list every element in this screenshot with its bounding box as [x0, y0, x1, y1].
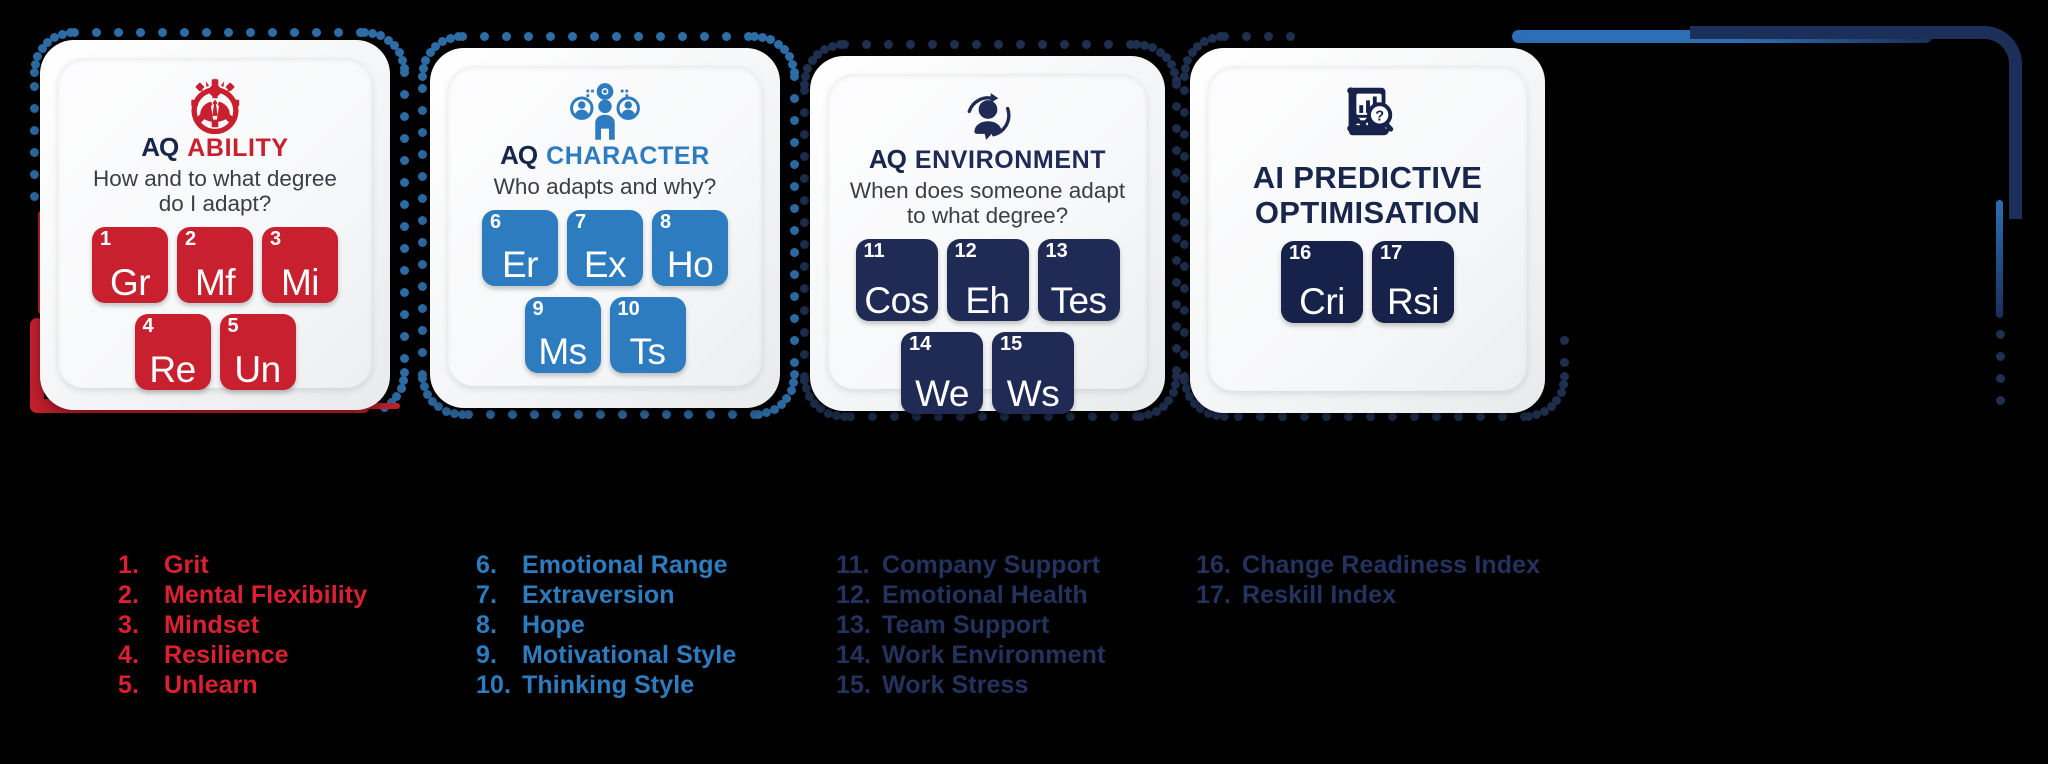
tile-symbol: Ts	[610, 333, 686, 372]
legend-item: 10. Thinking Style	[476, 671, 736, 699]
card-brand-name: ABILITY	[187, 136, 288, 161]
decorative-dot	[1532, 410, 1541, 419]
decorative-dot	[30, 68, 39, 77]
legend-label: Extraversion	[522, 581, 675, 609]
legend-label: Change Readiness Index	[1242, 551, 1540, 579]
decorative-dot	[1432, 412, 1441, 421]
legend-ai-predictive: 16. Change Readiness Index 17. Reskill I…	[1196, 551, 1540, 611]
tile-row-2: 4 Re 5 Un	[135, 314, 296, 390]
decorative-dot	[634, 32, 643, 41]
legend-item: 5. Unlearn	[118, 671, 367, 699]
element-tile-3[interactable]: 3 Mi	[262, 227, 338, 303]
decorative-dot	[400, 68, 409, 77]
decorative-dot	[790, 116, 799, 125]
legend-item: 4. Resilience	[118, 641, 367, 669]
element-tile-5[interactable]: 5 Un	[220, 314, 296, 390]
decorative-dot	[800, 130, 809, 139]
legend-item: 12. Emotional Health	[836, 581, 1105, 609]
decorative-dot	[546, 32, 555, 41]
decorative-dot	[290, 28, 299, 37]
decorative-dot	[1996, 396, 2005, 405]
tile-number: 11	[864, 241, 885, 261]
legend-item: 13. Team Support	[836, 611, 1105, 639]
decorative-dot	[1234, 412, 1243, 421]
decorative-dot	[1476, 412, 1485, 421]
legend-label: Mindset	[164, 611, 259, 639]
card-brand-name: ENVIRONMENT	[915, 148, 1106, 173]
decorative-dot	[1132, 412, 1141, 421]
decorative-dot	[334, 28, 343, 37]
card-brand: AQ ENVIRONMENT	[869, 146, 1106, 173]
tile-symbol: Tes	[1038, 282, 1120, 321]
tile-symbol: Re	[135, 351, 211, 390]
decorative-dot	[728, 410, 737, 419]
tile-number: 10	[618, 299, 640, 319]
decorative-dot	[700, 32, 709, 41]
decorative-dot	[180, 28, 189, 37]
element-tile-2[interactable]: 2 Mf	[177, 227, 253, 303]
decorative-dot	[400, 332, 409, 341]
decorative-dot	[1996, 374, 2005, 383]
tile-symbol: Ms	[525, 333, 601, 372]
decorative-dot	[1152, 407, 1161, 416]
decorative-dot	[1183, 56, 1192, 65]
decorative-dot	[862, 40, 871, 49]
decorative-dot	[114, 28, 123, 37]
legend-item: 3. Mindset	[118, 611, 367, 639]
tile-number: 4	[143, 316, 154, 336]
legend-item: 2. Mental Flexibility	[118, 581, 367, 609]
card-icon	[566, 80, 644, 142]
decorative-dot	[994, 40, 1003, 49]
decorative-dot	[1060, 40, 1069, 49]
decorative-dot	[832, 411, 841, 420]
decorative-dot	[596, 410, 605, 419]
decorative-dot	[421, 56, 430, 65]
decorative-dot	[458, 410, 467, 419]
decorative-dot	[502, 32, 511, 41]
decorative-dot	[1180, 108, 1189, 117]
decorative-dot	[800, 284, 809, 293]
legend-number: 13.	[836, 611, 882, 639]
decorative-dot	[1088, 412, 1097, 421]
decorative-dot	[524, 32, 533, 41]
card-brand: AQ CHARACTER	[500, 142, 710, 169]
decorative-dot	[1180, 306, 1189, 315]
legend-number: 7.	[476, 581, 522, 609]
decorative-dot	[790, 160, 799, 169]
decorative-dot	[640, 410, 649, 419]
decorative-dot	[400, 112, 409, 121]
tile-symbol: Rsi	[1372, 283, 1454, 322]
decorative-dot	[1144, 410, 1153, 419]
decorative-dot	[30, 170, 39, 179]
decorative-dot	[418, 370, 427, 379]
decorative-dot	[801, 72, 810, 81]
decorative-dot	[1220, 412, 1229, 421]
decorative-dot	[454, 32, 463, 41]
legend-number: 11.	[836, 551, 882, 579]
decorative-dot	[803, 64, 812, 73]
decorative-dot	[590, 32, 599, 41]
decorative-dot	[1180, 262, 1189, 271]
decorative-dot	[418, 282, 427, 291]
tile-symbol: Ho	[652, 246, 728, 285]
legend-label: Thinking Style	[522, 671, 694, 699]
decorative-dot	[1996, 330, 2005, 339]
decorative-dot	[618, 410, 627, 419]
decorative-dot	[418, 84, 427, 93]
legend-number: 2.	[118, 581, 164, 609]
decorative-dot	[486, 410, 495, 419]
tile-symbol: Er	[482, 246, 558, 285]
decorative-dot	[568, 32, 577, 41]
decorative-dot	[790, 204, 799, 213]
tile-number: 15	[1000, 334, 1022, 354]
decorative-dot	[33, 52, 42, 61]
element-tile-8[interactable]: 8 Ho	[652, 210, 728, 286]
decorative-dot	[800, 80, 809, 89]
decorative-dot	[30, 104, 39, 113]
decorative-dot	[928, 40, 937, 49]
decorative-dot	[418, 348, 427, 357]
decorative-dot	[790, 270, 799, 279]
decorative-dot	[790, 94, 799, 103]
decorative-dot	[1180, 72, 1189, 81]
decorative-dot	[884, 40, 893, 49]
card-question: How and to what degreedo I adapt?	[93, 166, 337, 216]
decorative-dot	[1560, 358, 1569, 367]
element-tile-1[interactable]: 1 Gr	[92, 227, 168, 303]
decorative-dot	[612, 32, 621, 41]
tile-symbol: Mf	[177, 264, 253, 303]
decorative-dot	[1180, 372, 1189, 381]
legend-item: 6. Emotional Range	[476, 551, 736, 579]
legend-number: 12.	[836, 581, 882, 609]
decorative-dot	[418, 216, 427, 225]
legend-item: 14. Work Environment	[836, 641, 1105, 669]
element-tile-4[interactable]: 4 Re	[135, 314, 211, 390]
decorative-dot	[202, 28, 211, 37]
decorative-dot	[800, 306, 809, 315]
card-icon: ?	[1337, 80, 1399, 142]
element-tile-11[interactable]: 11 Cos	[856, 239, 938, 321]
decorative-dot	[418, 326, 427, 335]
card-icon	[955, 88, 1021, 146]
legend-number: 10.	[476, 671, 522, 699]
decorative-dot	[1560, 336, 1569, 345]
decorative-dot	[30, 126, 39, 135]
person-rotate-arrows-icon	[955, 88, 1021, 146]
legend-item: 9. Motivational Style	[476, 641, 736, 669]
legend-label: Grit	[164, 551, 209, 579]
legend-item: 16. Change Readiness Index	[1196, 551, 1540, 579]
legend-number: 17.	[1196, 581, 1242, 609]
decorative-dot	[1180, 196, 1189, 205]
decorative-dot	[800, 262, 809, 271]
legend-item: 7. Extraversion	[476, 581, 736, 609]
decorative-dot	[1242, 32, 1251, 41]
decorative-dot	[1520, 412, 1529, 421]
tile-row-2: 9 Ms 10 Ts	[525, 297, 686, 373]
tile-symbol: Un	[220, 351, 296, 390]
decorative-dot	[1454, 412, 1463, 421]
decorative-dot	[552, 410, 561, 419]
tile-row-1: 16 Cri 17 Rsi	[1281, 241, 1454, 323]
accent-bar-ai-top	[1512, 30, 1932, 43]
legend-ability: 1. Grit 2. Mental Flexibility 3. Mindset…	[118, 551, 367, 701]
decorative-dot	[246, 28, 255, 37]
aq-logo-text: AQ	[141, 134, 178, 160]
decorative-dot	[950, 40, 959, 49]
element-tile-14[interactable]: 14 We	[901, 332, 983, 414]
decorative-dot	[800, 174, 809, 183]
element-tile-15[interactable]: 15 Ws	[992, 332, 1074, 414]
decorative-dot	[800, 350, 809, 359]
decorative-dot	[1388, 412, 1397, 421]
decorative-dot	[790, 182, 799, 191]
decorative-dot	[380, 403, 389, 412]
legend-item: 17. Reskill Index	[1196, 581, 1540, 609]
legend-character: 6. Emotional Range 7. Extraversion 8. Ho…	[476, 551, 736, 701]
element-tile-16[interactable]: 16 Cri	[1281, 241, 1363, 323]
svg-text:?: ?	[1375, 109, 1384, 125]
legend-item: 15. Work Stress	[836, 671, 1105, 699]
element-tile-6[interactable]: 6 Er	[482, 210, 558, 286]
decorative-dot	[400, 90, 409, 99]
decorative-dot	[906, 40, 915, 49]
card-brand-name: CHARACTER	[546, 144, 710, 169]
decorative-dot	[840, 412, 849, 421]
decorative-dot	[1180, 218, 1189, 227]
decorative-dot	[418, 106, 427, 115]
decorative-dot	[418, 150, 427, 159]
gear-lightbulb-person-icon	[184, 72, 246, 134]
decorative-dot	[400, 200, 409, 209]
decorative-dot	[790, 138, 799, 147]
card-aq-character: AQ CHARACTER Who adapts and why? 6 Er 7 …	[430, 48, 780, 408]
decorative-dot	[530, 410, 539, 419]
tile-symbol: Ex	[567, 246, 643, 285]
decorative-dot	[30, 192, 39, 201]
decorative-dot	[790, 336, 799, 345]
tile-number: 5	[228, 316, 239, 336]
legend-number: 15.	[836, 671, 882, 699]
decorative-dot	[30, 148, 39, 157]
tile-number: 14	[909, 334, 931, 354]
decorative-dot	[1110, 412, 1119, 421]
legend-environment: 11. Company Support 12. Emotional Health…	[836, 551, 1105, 701]
tile-symbol: We	[901, 375, 983, 414]
legend-number: 4.	[118, 641, 164, 669]
accent-bar-ai-right-fade	[1996, 200, 2003, 318]
legend-number: 9.	[476, 641, 522, 669]
decorative-dot	[762, 408, 771, 417]
decorative-dot	[1180, 174, 1189, 183]
legend-item: 11. Company Support	[836, 551, 1105, 579]
decorative-dot	[1322, 412, 1331, 421]
decorative-dot	[400, 156, 409, 165]
element-tile-9[interactable]: 9 Ms	[525, 297, 601, 373]
decorative-dot	[868, 412, 877, 421]
accent-border-ai-corner	[1690, 26, 2022, 219]
decorative-dot	[1082, 40, 1091, 49]
decorative-dot	[1540, 407, 1549, 416]
decorative-dot	[1278, 412, 1287, 421]
aq-logo-text: AQ	[869, 146, 906, 172]
decorative-dot	[722, 32, 731, 41]
decorative-dot	[400, 310, 409, 319]
decorative-dot	[1498, 412, 1507, 421]
decorative-dot	[684, 410, 693, 419]
element-tile-7[interactable]: 7 Ex	[567, 210, 643, 286]
tile-number: 9	[533, 299, 544, 319]
legend-label: Reskill Index	[1242, 581, 1396, 609]
legend-label: Mental Flexibility	[164, 581, 367, 609]
decorative-dot	[400, 178, 409, 187]
card-question: Who adapts and why?	[494, 174, 717, 199]
decorative-dot	[1256, 412, 1265, 421]
decorative-dot	[1300, 412, 1309, 421]
decorative-dot	[1410, 412, 1419, 421]
decorative-dot	[158, 28, 167, 37]
decorative-dot	[800, 328, 809, 337]
tile-number: 12	[955, 241, 977, 261]
decorative-dot	[678, 32, 687, 41]
legend-number: 16.	[1196, 551, 1242, 579]
decorative-dot	[800, 372, 809, 381]
decorative-dot	[1344, 412, 1353, 421]
card-icon	[184, 72, 246, 134]
decorative-dot	[972, 40, 981, 49]
decorative-dot	[1180, 152, 1189, 161]
decorative-dot	[418, 72, 427, 81]
decorative-dot	[750, 410, 759, 419]
tile-row-2: 14 We 15 Ws	[901, 332, 1074, 414]
legend-number: 5.	[118, 671, 164, 699]
element-tile-17[interactable]: 17 Rsi	[1372, 241, 1454, 323]
tile-symbol: Eh	[947, 282, 1029, 321]
tile-number: 6	[490, 212, 501, 232]
decorative-dot	[400, 354, 409, 363]
legend-number: 14.	[836, 641, 882, 669]
legend-item: 1. Grit	[118, 551, 367, 579]
tile-number: 17	[1380, 243, 1402, 263]
legend-label: Team Support	[882, 611, 1049, 639]
decorative-dot	[1180, 284, 1189, 293]
decorative-dot	[30, 82, 39, 91]
tile-number: 3	[270, 229, 281, 249]
decorative-dot	[790, 72, 799, 81]
decorative-dot	[1180, 350, 1189, 359]
decorative-dot	[1180, 328, 1189, 337]
decorative-dot	[66, 28, 75, 37]
decorative-dot	[770, 405, 779, 414]
decorative-dot	[800, 152, 809, 161]
tile-row-1: 6 Er 7 Ex 8 Ho	[482, 210, 728, 286]
card-aq-environment: AQ ENVIRONMENT When does someone adaptto…	[810, 56, 1165, 411]
tile-number: 2	[185, 229, 196, 249]
element-tile-10[interactable]: 10 Ts	[610, 297, 686, 373]
element-tile-12[interactable]: 12 Eh	[947, 239, 1029, 321]
decorative-dot	[1216, 32, 1225, 41]
tile-number: 13	[1046, 241, 1068, 261]
decorative-dot	[656, 32, 665, 41]
decorative-dot	[790, 358, 799, 367]
decorative-dot	[790, 248, 799, 257]
decorative-dot	[136, 28, 145, 37]
element-tile-13[interactable]: 13 Tes	[1038, 239, 1120, 321]
legend-number: 8.	[476, 611, 522, 639]
legend-label: Emotional Range	[522, 551, 728, 579]
infographic-root: AQ ABILITY How and to what degreedo I ad…	[0, 0, 2048, 764]
decorative-dot	[442, 407, 451, 416]
decorative-dot	[800, 240, 809, 249]
decorative-dot	[662, 410, 671, 419]
decorative-dot	[418, 260, 427, 269]
card-inner: AQ ABILITY How and to what degreedo I ad…	[58, 58, 372, 388]
legend-label: Hope	[522, 611, 585, 639]
decorative-dot	[890, 412, 899, 421]
card-question: When does someone adaptto what degree?	[850, 178, 1125, 228]
decorative-dot	[1180, 130, 1189, 139]
tile-symbol: Gr	[92, 264, 168, 303]
tile-number: 16	[1289, 243, 1311, 263]
decorative-dot	[824, 409, 833, 418]
decorative-dot	[480, 32, 489, 41]
decorative-dot	[400, 222, 409, 231]
legend-item: 8. Hope	[476, 611, 736, 639]
card-title: AI PREDICTIVEOPTIMISATION	[1253, 160, 1483, 230]
decorative-dot	[836, 40, 845, 49]
legend-number: 1.	[118, 551, 164, 579]
decorative-dot	[400, 266, 409, 275]
decorative-dot	[1286, 32, 1295, 41]
legend-label: Unlearn	[164, 671, 258, 699]
decorative-dot	[450, 409, 459, 418]
decorative-dot	[418, 172, 427, 181]
tile-row-1: 11 Cos 12 Eh 13 Tes	[856, 239, 1120, 321]
decorative-dot	[418, 238, 427, 247]
decorative-dot	[400, 288, 409, 297]
tile-symbol: Cri	[1281, 283, 1363, 322]
decorative-dot	[790, 314, 799, 323]
decorative-dot	[418, 128, 427, 137]
decorative-dot	[1180, 86, 1189, 95]
card-aq-ability: AQ ABILITY How and to what degreedo I ad…	[40, 40, 390, 410]
legend-number: 3.	[118, 611, 164, 639]
decorative-dot	[790, 226, 799, 235]
decorative-dot	[31, 60, 40, 69]
decorative-dot	[312, 28, 321, 37]
decorative-dot	[706, 410, 715, 419]
decorative-dot	[400, 244, 409, 253]
tile-number: 8	[660, 212, 671, 232]
decorative-dot	[268, 28, 277, 37]
decorative-dot	[419, 64, 428, 73]
people-network-gear-icon	[566, 80, 644, 142]
legend-label: Work Environment	[882, 641, 1105, 669]
decorative-dot	[800, 196, 809, 205]
card-inner: ? AI PREDICTIVEOPTIMISATION 16 Cri 17 Rs…	[1208, 66, 1527, 391]
tile-number: 1	[100, 229, 111, 249]
decorative-dot	[1264, 32, 1273, 41]
legend-label: Emotional Health	[882, 581, 1088, 609]
decorative-dot	[1181, 64, 1190, 73]
decorative-dot	[508, 410, 517, 419]
tile-symbol: Mi	[262, 264, 338, 303]
card-brand: AQ ABILITY	[141, 134, 288, 161]
